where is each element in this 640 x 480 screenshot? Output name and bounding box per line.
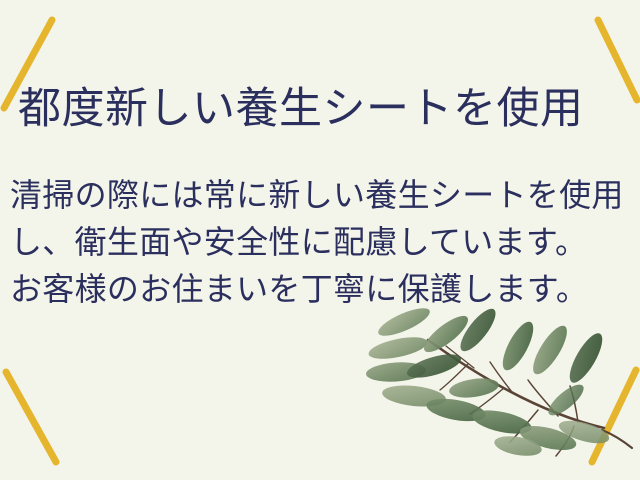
body-line-3: お客様のお住まいを丁寧に保護します。	[10, 266, 630, 313]
slide-canvas: 都度新しい養生シートを使用 清掃の際には常に新しい養生シートを使用 し、衛生面や…	[0, 0, 640, 480]
body-text: 清掃の際には常に新しい養生シートを使用 し、衛生面や安全性に配慮しています。 お…	[10, 172, 630, 313]
olive-branch-icon	[352, 300, 640, 480]
gold-diagonal-bottom-left-icon	[6, 372, 56, 462]
body-line-2: し、衛生面や安全性に配慮しています。	[10, 219, 630, 266]
body-line-1: 清掃の際には常に新しい養生シートを使用	[10, 172, 630, 219]
page-title: 都度新しい養生シートを使用	[18, 84, 628, 134]
gold-diagonal-bottom-right-icon	[592, 370, 636, 462]
